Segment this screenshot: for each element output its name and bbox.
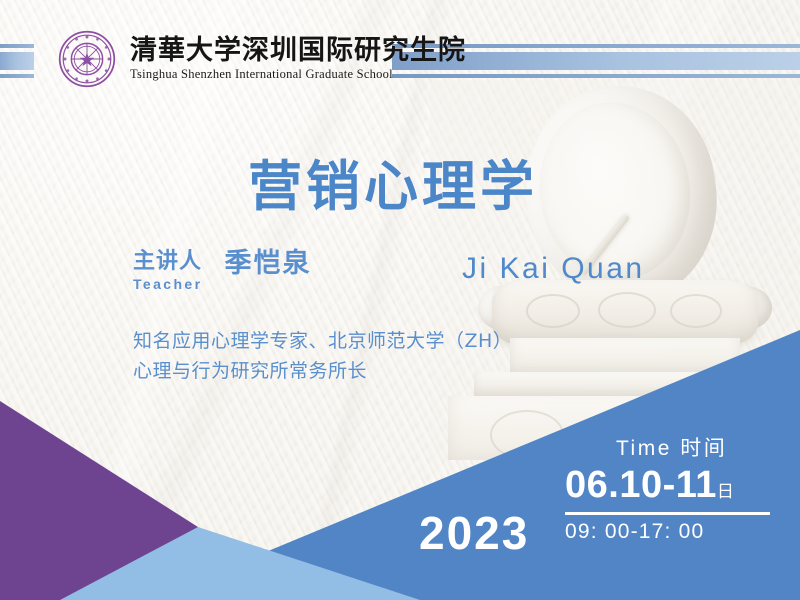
- tsinghua-seal-icon: [58, 30, 116, 88]
- speaker-bio: 知名应用心理学专家、北京师范大学（ZH） 心理与行为研究所常务所长: [133, 326, 512, 386]
- logo-name-en: Tsinghua Shenzhen International Graduate…: [130, 67, 466, 82]
- schedule-year: 2023: [419, 506, 529, 560]
- speaker-bio-line-2: 心理与行为研究所常务所长: [133, 356, 512, 386]
- speaker-bio-line-1: 知名应用心理学专家、北京师范大学（ZH）: [133, 326, 512, 356]
- schedule-date-value: 06.10-11: [565, 464, 717, 506]
- speaker-name-en: Ji Kai Quan: [462, 252, 645, 286]
- speaker-role-en: Teacher: [133, 276, 202, 292]
- speaker-role: 主讲人 Teacher: [133, 250, 202, 292]
- speaker-name-cn: 季恺泉: [224, 250, 311, 278]
- course-title: 营销心理学: [248, 142, 538, 221]
- schedule-date-range: 06.10-11日: [565, 466, 770, 504]
- schedule-hours: 09: 00-17: 00: [565, 520, 770, 544]
- schedule-detail: 06.10-11日 09: 00-17: 00: [565, 466, 770, 544]
- speaker-block: 主讲人 Teacher 季恺泉: [133, 250, 311, 292]
- logo-name-cn: 清華大学深圳国际研究生院: [130, 36, 466, 66]
- poster-canvas: 清華大学深圳国际研究生院 Tsinghua Shenzhen Internati…: [0, 0, 800, 600]
- deco-bar-left: [0, 44, 34, 78]
- time-label: Time 时间: [616, 432, 727, 462]
- schedule-date-unit: 日: [717, 482, 734, 501]
- schedule-divider: [565, 512, 770, 515]
- institution-logo: 清華大学深圳国际研究生院 Tsinghua Shenzhen Internati…: [58, 30, 466, 88]
- speaker-role-cn: 主讲人: [133, 250, 202, 274]
